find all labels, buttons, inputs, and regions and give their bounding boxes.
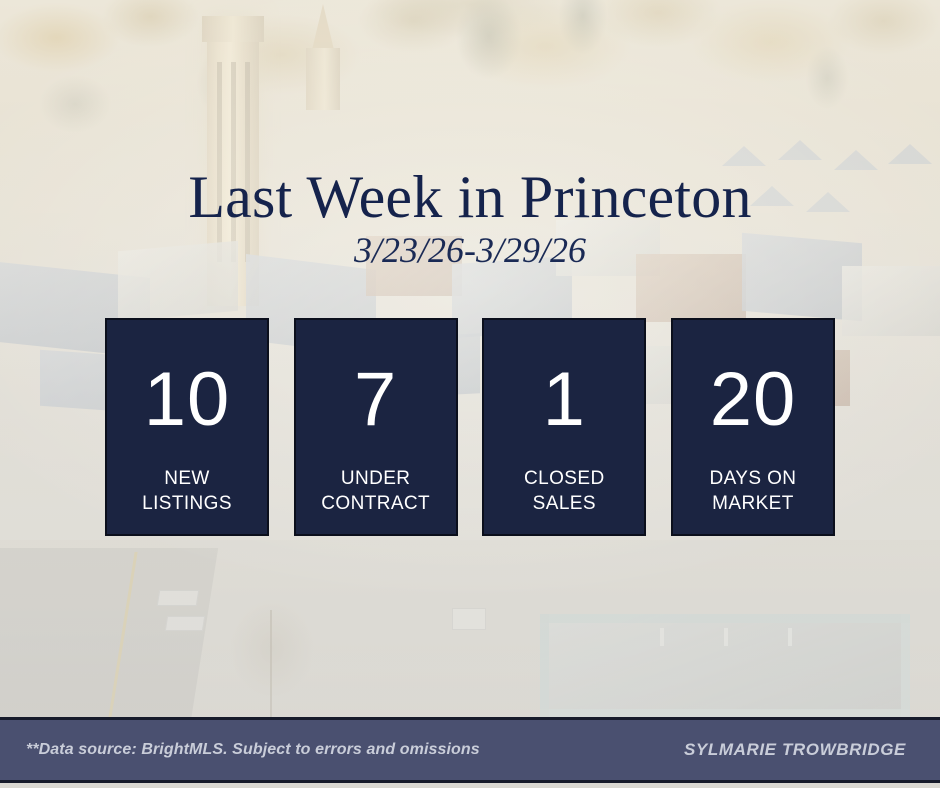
footer-bar: **Data source: BrightMLS. Subject to err… (0, 717, 940, 783)
stat-label: CLOSED SALES (524, 467, 605, 516)
stat-label: UNDER CONTRACT (321, 467, 430, 516)
stat-card-under-contract[interactable]: 7 UNDER CONTRACT (294, 318, 458, 536)
agent-name: SYLMARIE TROWBRIDGE (684, 740, 906, 760)
date-range: 3/23/26-3/29/26 (0, 230, 940, 271)
stat-value: 7 (354, 362, 397, 438)
stat-label: NEW LISTINGS (142, 467, 232, 516)
stat-card-closed-sales[interactable]: 1 CLOSED SALES (482, 318, 646, 536)
stat-card-new-listings[interactable]: 10 NEW LISTINGS (105, 318, 269, 536)
stat-card-days-on-market[interactable]: 20 DAYS ON MARKET (671, 318, 835, 536)
stat-label: DAYS ON MARKET (710, 467, 797, 516)
stat-value: 1 (543, 362, 586, 438)
stat-value: 10 (144, 362, 231, 438)
page-title: Last Week in Princeton (0, 166, 940, 228)
infographic-poster: Last Week in Princeton 3/23/26-3/29/26 1… (0, 0, 940, 788)
stat-value: 20 (710, 362, 797, 438)
stat-card-row: 10 NEW LISTINGS 7 UNDER CONTRACT 1 CLOSE… (105, 318, 835, 536)
headline-block: Last Week in Princeton 3/23/26-3/29/26 (0, 166, 940, 272)
data-source-note: **Data source: BrightMLS. Subject to err… (26, 741, 480, 759)
